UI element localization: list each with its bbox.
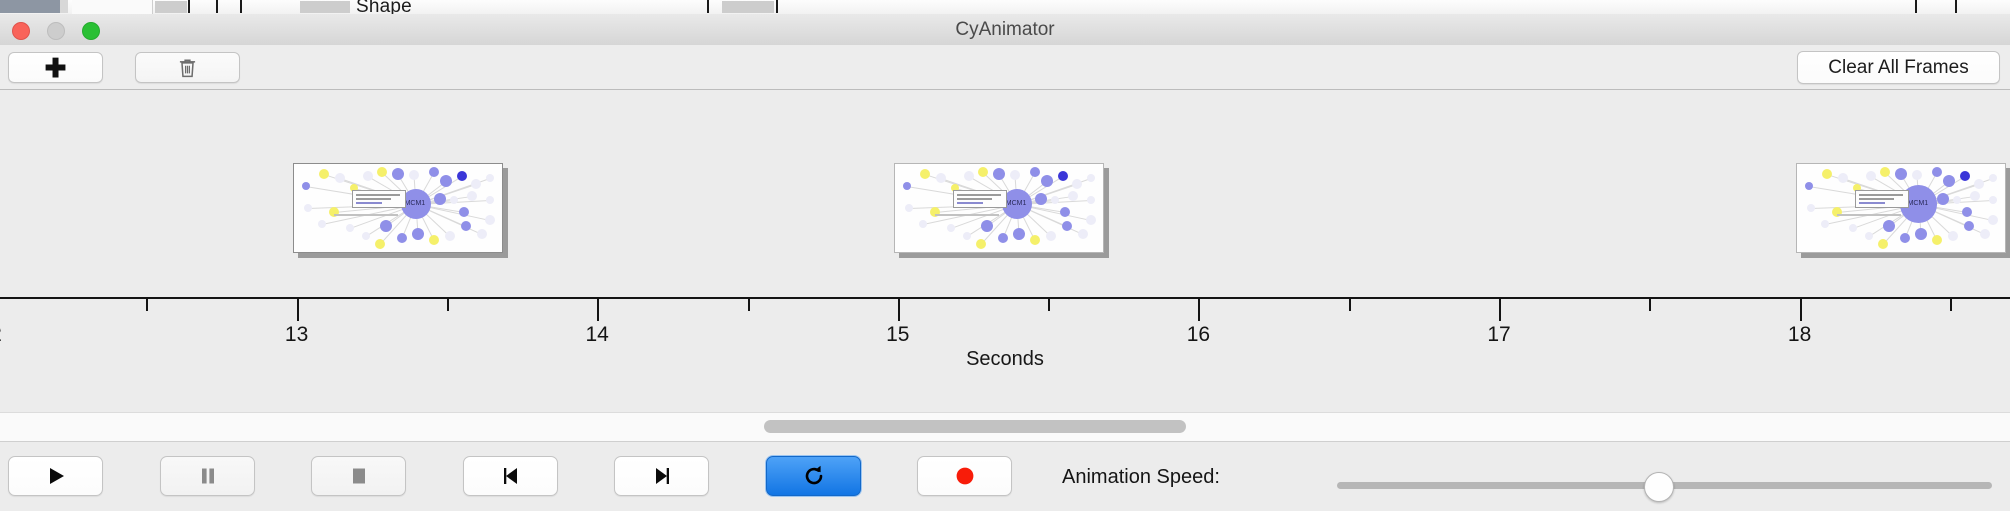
ruler-tick-minor xyxy=(1349,299,1351,311)
network-node xyxy=(1932,235,1942,245)
frames-track[interactable]: MCM1MCM1MCM1 xyxy=(0,90,2010,298)
loop-button[interactable] xyxy=(766,456,861,496)
network-node xyxy=(450,196,458,204)
network-node xyxy=(1912,170,1922,180)
network-thumbnail: MCM1 xyxy=(1797,164,2005,252)
network-hub-label: MCM1 xyxy=(405,200,426,207)
record-icon xyxy=(954,465,976,487)
network-node xyxy=(1051,196,1059,204)
network-node xyxy=(1962,207,1972,217)
ruler-tick-minor xyxy=(1649,299,1651,311)
ruler-tick-minor xyxy=(748,299,750,311)
background-window-divider xyxy=(1955,0,1957,13)
network-node xyxy=(429,167,439,177)
background-window-gray-segment xyxy=(60,0,68,13)
network-node xyxy=(1086,215,1096,225)
ruler-tick-major xyxy=(1499,299,1501,321)
timeline-scrollbar[interactable] xyxy=(0,412,2010,442)
network-node xyxy=(1974,179,1984,189)
network-node xyxy=(1865,232,1873,240)
time-ruler[interactable]: 2131415161718 xyxy=(0,297,2010,349)
network-node xyxy=(1030,167,1040,177)
ruler-tick-major xyxy=(898,299,900,321)
network-node xyxy=(485,215,495,225)
network-node xyxy=(392,168,404,180)
background-window-divider xyxy=(188,0,190,13)
ruler-tick-major xyxy=(297,299,299,321)
timeline-frame[interactable]: MCM1 xyxy=(894,163,1109,258)
network-annotation-text xyxy=(935,214,999,216)
network-node xyxy=(319,169,329,179)
network-node xyxy=(1058,171,1068,181)
timeline-scrollbar-thumb[interactable] xyxy=(764,420,1186,433)
network-node xyxy=(981,220,993,232)
network-callout xyxy=(1855,190,1909,208)
network-node xyxy=(998,233,1008,243)
background-window-shade xyxy=(300,1,350,13)
ruler-tick-label: 17 xyxy=(1487,323,1510,347)
network-node xyxy=(903,182,911,190)
background-window-label: Shape xyxy=(356,0,412,15)
network-node xyxy=(346,224,354,232)
trash-icon xyxy=(178,57,197,79)
ruler-tick-minor xyxy=(447,299,449,311)
network-node xyxy=(457,171,467,181)
network-node xyxy=(1866,171,1876,181)
network-node xyxy=(471,179,481,189)
network-node xyxy=(1060,207,1070,217)
network-node xyxy=(377,167,387,177)
ruler-tick-minor xyxy=(1048,299,1050,311)
record-button[interactable] xyxy=(917,456,1012,496)
network-node xyxy=(905,204,913,212)
network-node xyxy=(1878,239,1888,249)
network-node xyxy=(1035,193,1047,205)
network-node xyxy=(1072,179,1082,189)
ruler-tick-major xyxy=(1198,299,1200,321)
ruler-tick-label: 16 xyxy=(1187,323,1210,347)
ruler-tick-label: 2 xyxy=(0,323,2,347)
delete-frame-button[interactable] xyxy=(135,52,240,83)
network-node xyxy=(1953,196,1961,204)
background-window-strip: Shape xyxy=(0,0,2010,15)
network-node xyxy=(1087,196,1095,204)
network-node xyxy=(1062,221,1072,231)
network-node xyxy=(1948,231,1958,241)
network-node xyxy=(1964,221,1974,231)
network-node xyxy=(304,204,312,212)
cyanimator-window: Shape CyAnimator ✚ Clear All Fram xyxy=(0,0,2010,510)
network-node xyxy=(1068,191,1078,201)
network-node xyxy=(375,239,385,249)
network-node xyxy=(1030,235,1040,245)
network-node xyxy=(1849,224,1857,232)
network-hub-label: MCM1 xyxy=(1006,200,1027,207)
ruler-tick-major xyxy=(1800,299,1802,321)
network-callout xyxy=(953,190,1007,208)
pause-icon xyxy=(197,465,219,487)
network-node xyxy=(380,220,392,232)
axis-title: Seconds xyxy=(0,348,2010,371)
skip-start-button[interactable] xyxy=(463,456,558,496)
network-node xyxy=(1943,175,1955,187)
network-node xyxy=(397,233,407,243)
timeline-frame[interactable]: MCM1 xyxy=(1796,163,2010,258)
network-node xyxy=(936,173,946,183)
network-node xyxy=(363,171,373,181)
network-node xyxy=(477,229,487,239)
background-window-segment xyxy=(72,0,153,14)
background-window-dark-segment xyxy=(0,0,60,13)
network-node xyxy=(412,228,424,240)
frame-thumbnail[interactable]: MCM1 xyxy=(894,163,1104,253)
ruler-tick-minor xyxy=(1950,299,1952,311)
network-node xyxy=(1895,168,1907,180)
background-window-divider xyxy=(216,0,218,13)
frame-thumbnail[interactable]: MCM1 xyxy=(1796,163,2006,253)
skip-start-icon xyxy=(500,465,522,487)
network-node xyxy=(1078,229,1088,239)
network-node xyxy=(486,174,494,182)
network-node xyxy=(993,168,1005,180)
clear-all-frames-label: Clear All Frames xyxy=(1828,57,1968,79)
background-window-shade xyxy=(155,1,187,13)
skip-end-icon xyxy=(651,465,673,487)
animation-speed-slider-thumb[interactable] xyxy=(1644,472,1674,502)
network-node xyxy=(1989,196,1997,204)
network-node xyxy=(1046,231,1056,241)
network-node xyxy=(1807,204,1815,212)
network-node xyxy=(919,220,927,228)
network-node xyxy=(302,182,310,190)
network-callout xyxy=(352,190,406,208)
ruler-tick-label: 15 xyxy=(886,323,909,347)
network-node xyxy=(409,170,419,180)
network-node xyxy=(1821,220,1829,228)
play-icon xyxy=(45,465,67,487)
add-frame-button[interactable]: ✚ xyxy=(8,52,103,83)
network-node xyxy=(1087,174,1095,182)
network-node xyxy=(1805,182,1813,190)
plus-icon: ✚ xyxy=(45,55,67,81)
network-node xyxy=(1988,215,1998,225)
network-node xyxy=(1822,169,1832,179)
ruler-axis xyxy=(0,297,2010,299)
network-node xyxy=(440,175,452,187)
network-node xyxy=(1010,170,1020,180)
network-annotation-text xyxy=(334,214,398,216)
network-node xyxy=(362,232,370,240)
animation-speed-label: Animation Speed: xyxy=(1062,466,1220,489)
network-node xyxy=(461,221,471,231)
network-node xyxy=(459,207,469,217)
network-node xyxy=(335,173,345,183)
play-button[interactable] xyxy=(8,456,103,496)
ruler-tick-label: 14 xyxy=(586,323,609,347)
network-node xyxy=(1932,167,1942,177)
network-thumbnail: MCM1 xyxy=(294,164,502,252)
network-node xyxy=(1838,173,1848,183)
window-title: CyAnimator xyxy=(0,14,2010,45)
timeline-panel[interactable]: MCM1MCM1MCM1 2131415161718 Seconds xyxy=(0,90,2010,412)
ruler-tick-minor xyxy=(146,299,148,311)
toolbar: ✚ Clear All Frames xyxy=(0,45,2010,90)
frame-thumbnail[interactable]: MCM1 xyxy=(293,163,503,253)
ruler-tick-label: 13 xyxy=(285,323,308,347)
network-node xyxy=(467,191,477,201)
stop-button[interactable] xyxy=(311,456,406,496)
background-window-divider xyxy=(240,0,242,13)
skip-end-button[interactable] xyxy=(614,456,709,496)
network-hub-label: MCM1 xyxy=(1908,200,1929,207)
network-node xyxy=(1937,193,1949,205)
network-thumbnail: MCM1 xyxy=(895,164,1103,252)
network-node xyxy=(434,193,446,205)
network-node xyxy=(1900,233,1910,243)
network-node xyxy=(920,169,930,179)
network-node xyxy=(429,235,439,245)
clear-all-frames-button[interactable]: Clear All Frames xyxy=(1797,51,2000,84)
ruler-tick-label: 18 xyxy=(1788,323,1811,347)
network-node xyxy=(1970,191,1980,201)
timeline-frame[interactable]: MCM1 xyxy=(293,163,508,258)
network-node xyxy=(1980,229,1990,239)
network-node xyxy=(1013,228,1025,240)
loop-icon xyxy=(802,464,826,488)
stop-icon xyxy=(348,465,370,487)
background-window-divider xyxy=(776,0,778,13)
network-node xyxy=(486,196,494,204)
network-annotation-text xyxy=(1837,214,1901,216)
background-window-divider xyxy=(1915,0,1917,13)
playback-controls: Animation Speed: xyxy=(0,441,2010,511)
network-node xyxy=(964,171,974,181)
network-node xyxy=(1915,228,1927,240)
network-node xyxy=(976,239,986,249)
network-node xyxy=(1880,167,1890,177)
background-window-divider xyxy=(707,0,709,13)
title-bar[interactable]: CyAnimator xyxy=(0,14,2010,46)
pause-button[interactable] xyxy=(160,456,255,496)
network-node xyxy=(1883,220,1895,232)
ruler-tick-major xyxy=(597,299,599,321)
network-node xyxy=(1989,174,1997,182)
network-node xyxy=(318,220,326,228)
network-node xyxy=(445,231,455,241)
network-node xyxy=(1041,175,1053,187)
network-node xyxy=(1960,171,1970,181)
network-node xyxy=(963,232,971,240)
network-node xyxy=(947,224,955,232)
network-node xyxy=(978,167,988,177)
background-window-shade xyxy=(722,1,774,13)
